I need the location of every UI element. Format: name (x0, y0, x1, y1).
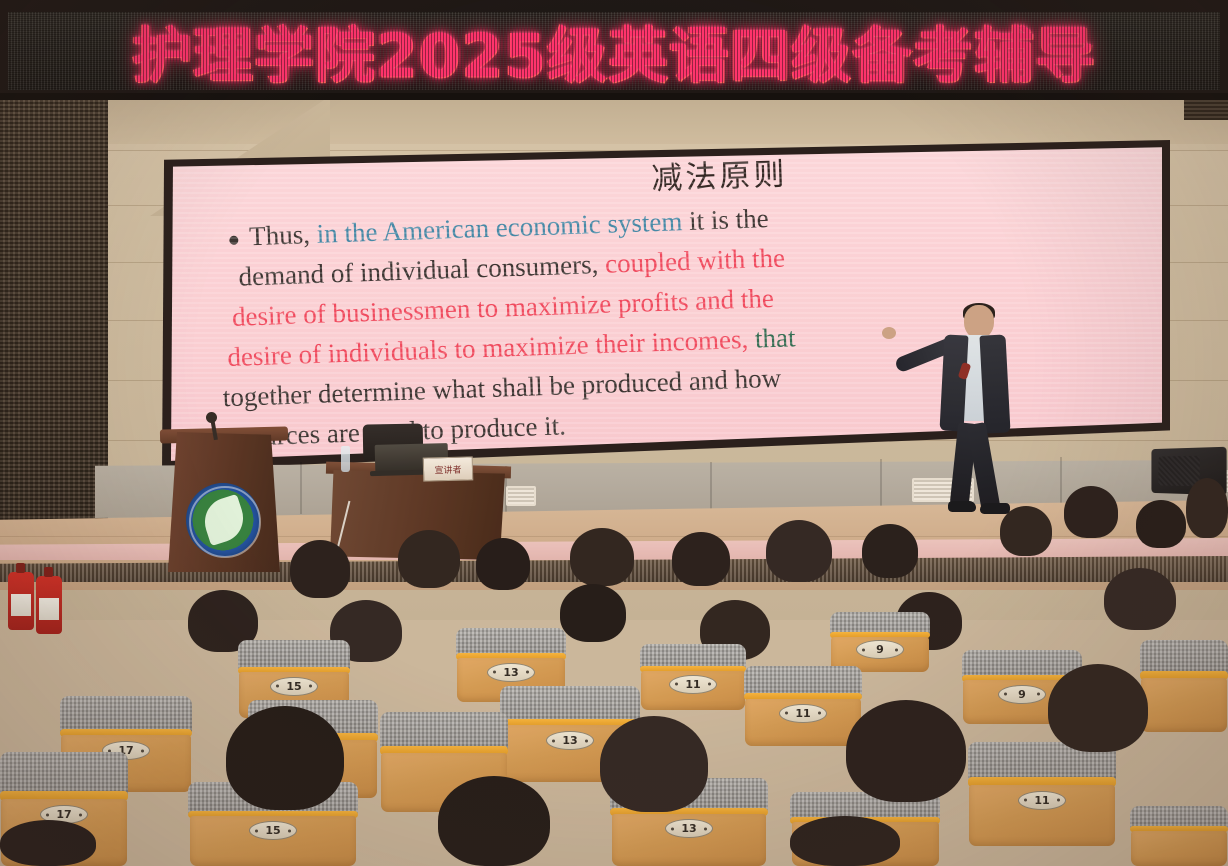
wall-vent-left (506, 486, 536, 506)
audience-head (1104, 568, 1176, 630)
audience-head (1136, 500, 1186, 548)
audience-head (862, 524, 918, 578)
audience-head (438, 776, 550, 866)
led-panel: 护理学院2025级英语四级备考辅导 (8, 12, 1220, 90)
auditorium-seat[interactable] (1140, 640, 1228, 732)
audience-head (476, 538, 530, 590)
seat-number-plate: 13 (546, 731, 594, 750)
presenter-shoe-right (980, 503, 1010, 514)
seat-back-panel: 15 (190, 816, 357, 866)
seat-number-plate: 15 (270, 677, 318, 696)
seat-number-plate: 11 (1018, 791, 1066, 810)
auditorium-seat[interactable]: 11 (968, 742, 1116, 846)
seat-number-plate: 15 (249, 821, 297, 840)
seat-number-plate: 11 (669, 675, 717, 694)
audience-head (672, 532, 730, 586)
led-banner: 护理学院2025级英语四级备考辅导 (0, 0, 1228, 100)
audience-head (1000, 506, 1052, 556)
presenter-jacket-right (979, 334, 1010, 433)
audience-head (398, 530, 460, 588)
seat-number-plate: 9 (856, 640, 904, 659)
audience-head (560, 584, 626, 642)
led-banner-text: 护理学院2025级英语四级备考辅导 (8, 12, 1220, 90)
presenter-head (964, 305, 994, 339)
fire-extinguisher-1 (8, 572, 34, 630)
audience-head (846, 700, 966, 802)
lecture-hall-photo: 护理学院2025级英语四级备考辅导 减法原则 Thus, in the Amer… (0, 0, 1228, 866)
audience-head (1186, 478, 1228, 538)
audience-head (570, 528, 634, 586)
slide-bullet-icon (229, 236, 238, 245)
auditorium-seat[interactable] (1130, 806, 1228, 866)
water-bottle (341, 446, 350, 472)
auditorium-seat[interactable]: 11 (640, 644, 746, 710)
seat-back-panel: 11 (745, 699, 861, 746)
audience-head (790, 816, 900, 866)
presenter (930, 305, 1016, 520)
seat-back-panel: 11 (641, 671, 745, 710)
presenter-shoe-left (948, 501, 976, 512)
fire-extinguisher-2 (36, 576, 62, 634)
audience-head (766, 520, 832, 582)
audience-head (226, 706, 344, 810)
seat-back-panel: 13 (612, 814, 767, 866)
audience-head (1048, 664, 1148, 752)
seat-number-plate: 13 (487, 663, 535, 682)
auditorium-seat[interactable]: 11 (744, 666, 862, 746)
seat-number-plate: 11 (779, 704, 827, 723)
seat-back-panel: 11 (969, 785, 1114, 846)
presenter-hand (882, 327, 896, 339)
extinguisher-label (39, 598, 59, 620)
seat-number-plate: 9 (998, 685, 1046, 704)
audience-head (1064, 486, 1118, 538)
podium-microphone-head (206, 412, 217, 423)
desk-nameplate: 宣讲者 (423, 456, 474, 481)
audience-head (290, 540, 350, 598)
auditorium-seat[interactable]: 9 (830, 612, 930, 672)
audience-head (0, 820, 96, 866)
extinguisher-label (11, 594, 31, 616)
university-emblem-icon (186, 483, 260, 557)
audience-head (600, 716, 708, 812)
seat-number-plate: 13 (665, 819, 713, 838)
presenter-jacket-left (940, 334, 969, 431)
seat-back-panel (1131, 831, 1227, 866)
seat-back-panel (1141, 678, 1227, 732)
